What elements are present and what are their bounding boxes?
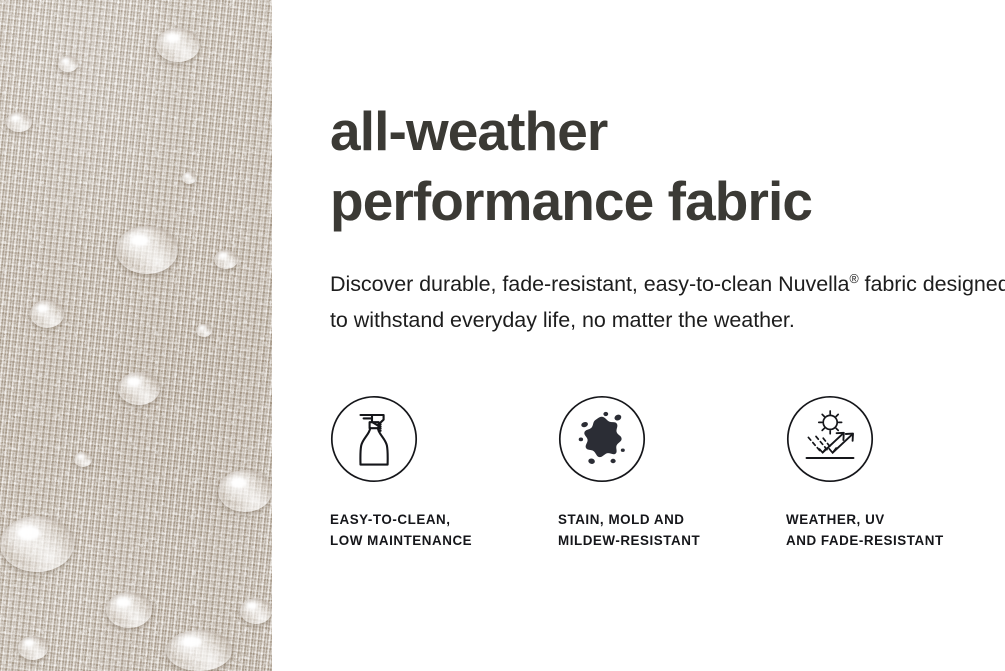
spray-bottle-icon (330, 395, 418, 483)
feature-caption: WEATHER, UV AND FADE-RESISTANT (786, 483, 1005, 551)
water-droplet (18, 636, 48, 660)
water-droplet (106, 592, 152, 628)
water-droplet (182, 172, 196, 184)
stain-splat-icon (558, 395, 646, 483)
water-droplet (240, 598, 272, 624)
water-droplet (214, 250, 238, 269)
water-droplet (196, 324, 212, 337)
fabric-photo-panel (0, 0, 272, 671)
water-droplet (6, 112, 32, 132)
water-droplet (118, 372, 160, 405)
feature-caption: STAIN, MOLD AND MILDEW-RESISTANT (558, 483, 786, 551)
all-weather-fabric-banner: all-weather performance fabric Discover … (0, 0, 1005, 671)
water-droplet (58, 56, 78, 72)
feature-item-stain-resistant: STAIN, MOLD AND MILDEW-RESISTANT (558, 395, 786, 551)
water-droplet (218, 470, 272, 512)
body-description: Discover durable, fade-resistant, easy-t… (330, 236, 1005, 338)
water-droplet (30, 300, 64, 328)
feature-item-weather-resistant: WEATHER, UV AND FADE-RESISTANT (786, 395, 1005, 551)
sun-reflection-icon (786, 395, 874, 483)
content-panel: all-weather performance fabric Discover … (272, 0, 1005, 671)
feature-item-easy-to-clean: EASY-TO-CLEAN, LOW MAINTENANCE (330, 395, 558, 551)
page-title: all-weather performance fabric (330, 0, 1005, 236)
water-droplet (116, 226, 178, 274)
body-text-part-one: Discover durable, fade-resistant, easy-t… (330, 272, 849, 296)
water-droplet (166, 630, 232, 671)
water-droplet (156, 28, 200, 62)
registered-trademark-mark: ® (849, 272, 858, 286)
feature-list: EASY-TO-CLEAN, LOW MAINTENANCE (330, 338, 1005, 551)
feature-caption: EASY-TO-CLEAN, LOW MAINTENANCE (330, 483, 558, 551)
water-droplet (74, 452, 92, 467)
water-droplet (0, 516, 74, 572)
